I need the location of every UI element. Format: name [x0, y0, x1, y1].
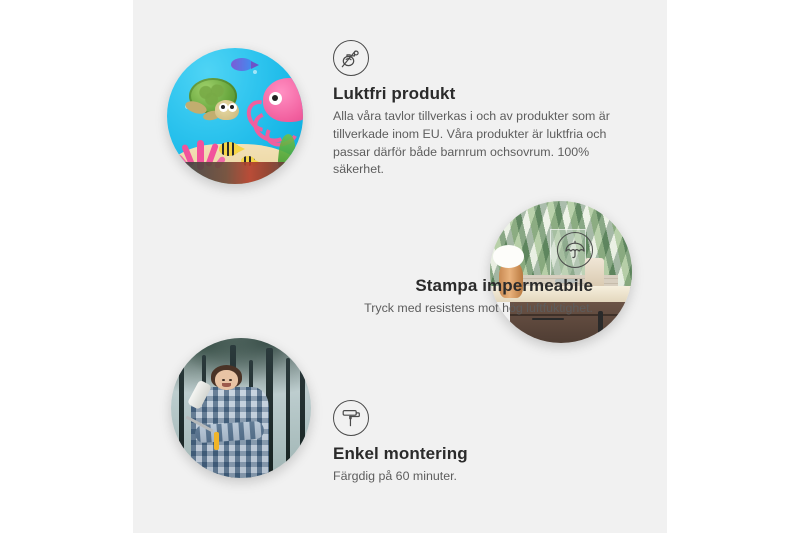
page-root: Luktfri produkt Alla våra tavlor tillver…	[0, 0, 800, 533]
feature-body: Alla våra tavlor tillverkas i och av pro…	[333, 108, 623, 178]
icon-wrapper	[213, 232, 593, 268]
octopus-illustration	[251, 78, 303, 140]
feature-body: Färgdig på 60 minuter.	[333, 468, 623, 486]
hand-tool	[214, 432, 219, 450]
feature-body: Tryck med resistens mot hög luftfuktighe…	[213, 300, 593, 318]
woman-figure	[191, 363, 269, 478]
feature-title: Luktfri produkt	[333, 84, 623, 104]
feature-title: Stampa impermeabile	[213, 276, 593, 296]
turtle-illustration	[183, 78, 243, 120]
aquarium-foreground-strip	[178, 162, 298, 184]
feature-block-odourless: Luktfri produkt Alla våra tavlor tillver…	[333, 40, 623, 179]
paint-roller-icon	[333, 400, 369, 436]
fish-blue	[231, 58, 253, 71]
feature-block-waterproof: Stampa impermeabile Tryck med resistens …	[213, 232, 593, 318]
content-panel: Luktfri produkt Alla våra tavlor tillver…	[133, 0, 667, 533]
umbrella-icon	[557, 232, 593, 268]
icon-wrapper	[333, 400, 623, 436]
product-image-painter[interactable]	[171, 338, 311, 478]
fish-yellow	[219, 142, 239, 156]
feature-title: Enkel montering	[333, 444, 623, 464]
aquarium-illustration	[167, 48, 303, 184]
feature-block-easy-install: Enkel montering Färgdig på 60 minuter.	[333, 400, 623, 486]
painter-photo	[171, 338, 311, 478]
product-image-aquarium[interactable]	[167, 48, 303, 184]
bubble-icon	[253, 70, 257, 74]
no-fragrance-icon	[333, 40, 369, 76]
icon-wrapper	[333, 40, 623, 76]
